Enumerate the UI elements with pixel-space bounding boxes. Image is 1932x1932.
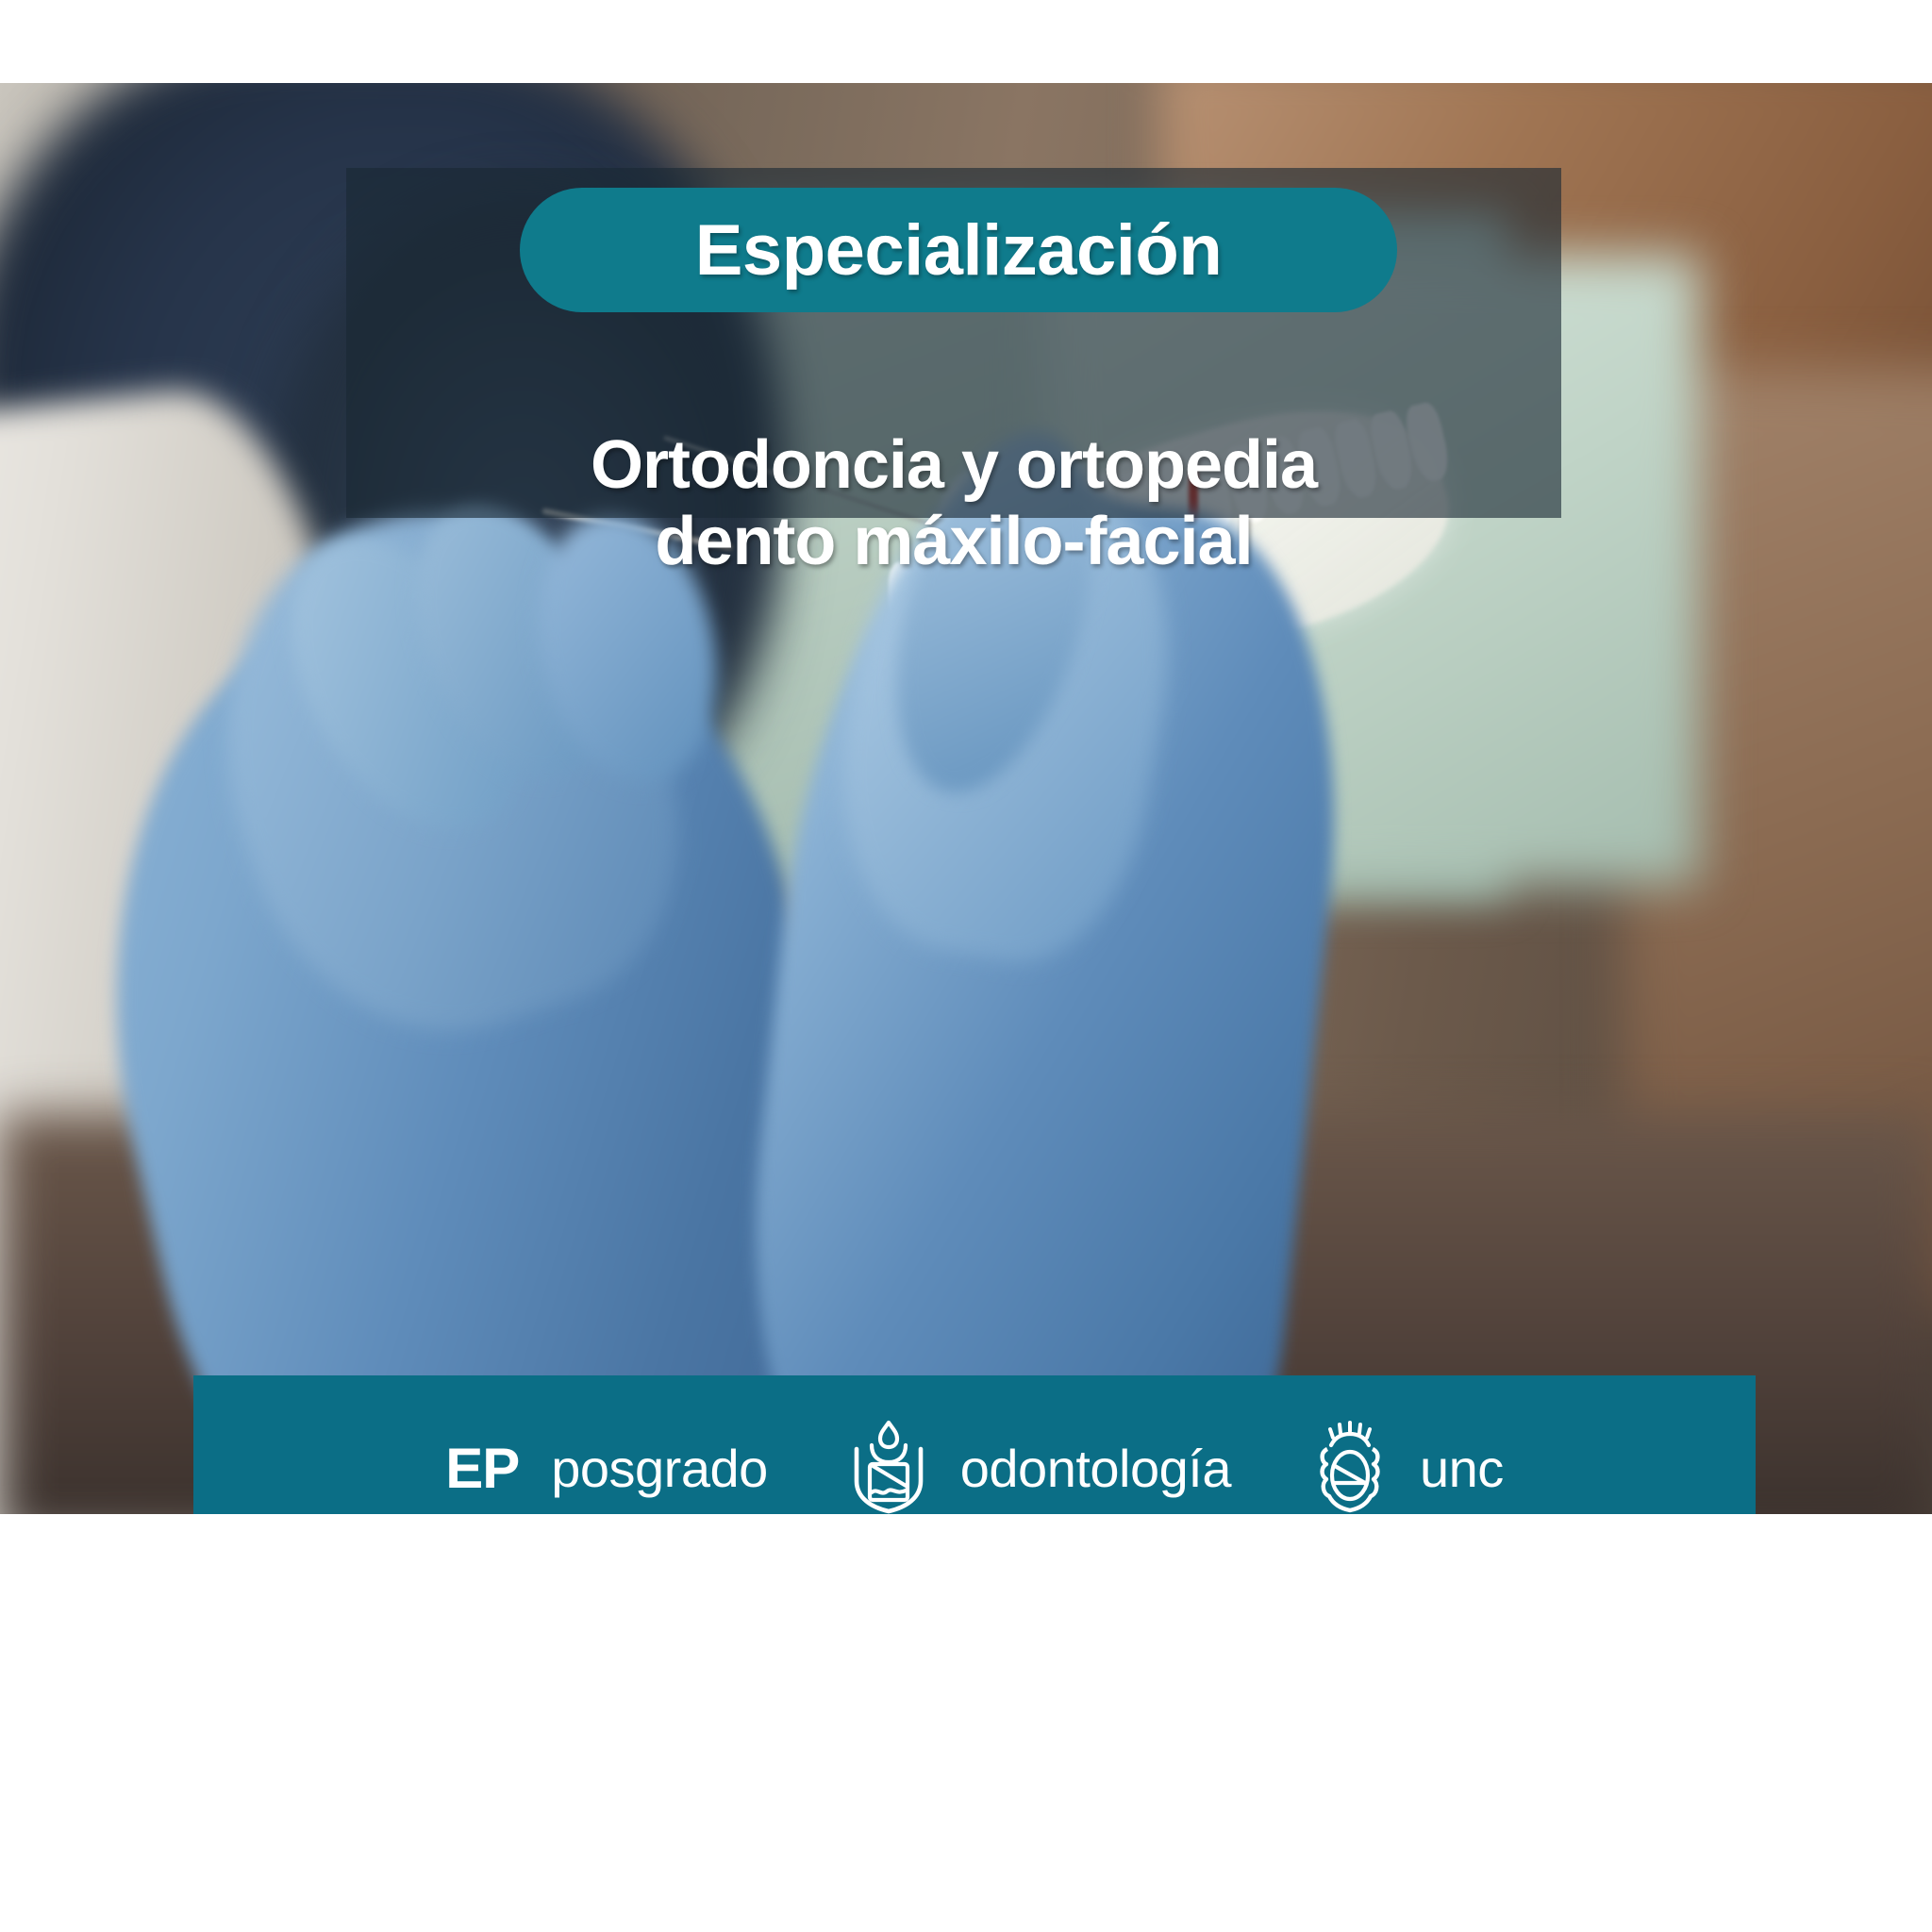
page-title-line-2: dento máxilo-facial	[346, 504, 1561, 580]
program-type-badge: Especialización	[520, 188, 1397, 312]
odontologia-shield-icon	[849, 1417, 928, 1514]
page-root: Especialización Ortodoncia y ortopedia d…	[0, 0, 1932, 1932]
odontologia-label: odontología	[960, 1442, 1231, 1495]
course-promo-banner: Especialización Ortodoncia y ortopedia d…	[0, 83, 1932, 1514]
unc-shield-icon	[1312, 1417, 1388, 1514]
posgrado-label: posgrado	[551, 1442, 768, 1495]
logo-row: EP posgrado odontología	[445, 1417, 1504, 1514]
page-title-line-1: Ortodoncia y ortopedia	[346, 427, 1561, 504]
ep-logo-label: EP	[445, 1441, 519, 1497]
program-type-badge-label: Especialización	[695, 209, 1223, 291]
page-title: Ortodoncia y ortopedia dento máxilo-faci…	[346, 427, 1561, 581]
unc-label: unc	[1420, 1442, 1504, 1495]
institutional-logo-bar: EP posgrado odontología	[193, 1375, 1756, 1514]
